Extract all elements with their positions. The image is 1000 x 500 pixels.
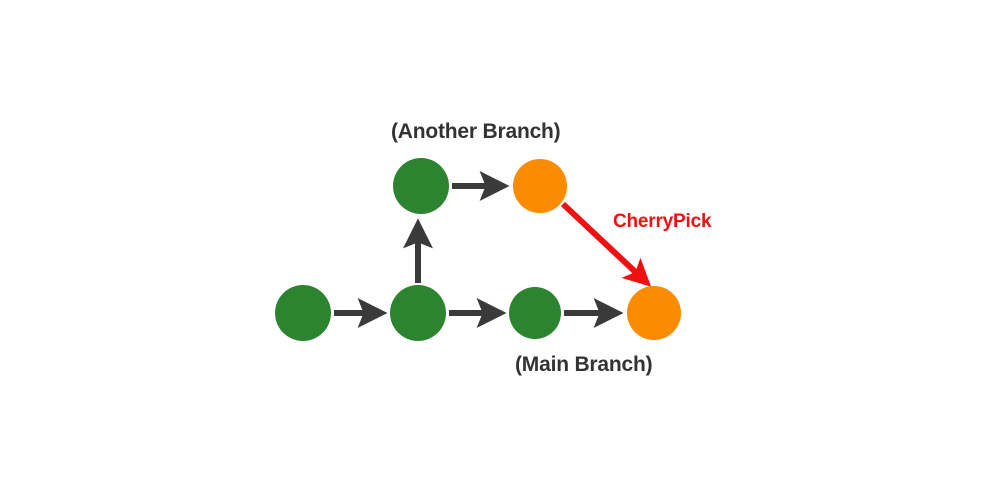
cherrypick-label: CherryPick (613, 211, 711, 233)
commit-node-main-commit-1[interactable] (275, 285, 331, 341)
cherrypick-diagram: (Another Branch) (Main Branch) CherryPic… (0, 0, 1000, 500)
another-branch-label: (Another Branch) (391, 120, 560, 144)
commit-node-another-commit-1[interactable] (393, 158, 449, 214)
diagram-canvas (0, 0, 1000, 500)
commit-node-main-commit-3[interactable] (509, 287, 561, 339)
commit-node-main-commit-2[interactable] (390, 285, 446, 341)
main-branch-label: (Main Branch) (515, 353, 652, 377)
commit-node-another-commit-2-source[interactable] (513, 159, 567, 213)
commit-node-main-commit-4-cherrypicked[interactable] (627, 286, 681, 340)
